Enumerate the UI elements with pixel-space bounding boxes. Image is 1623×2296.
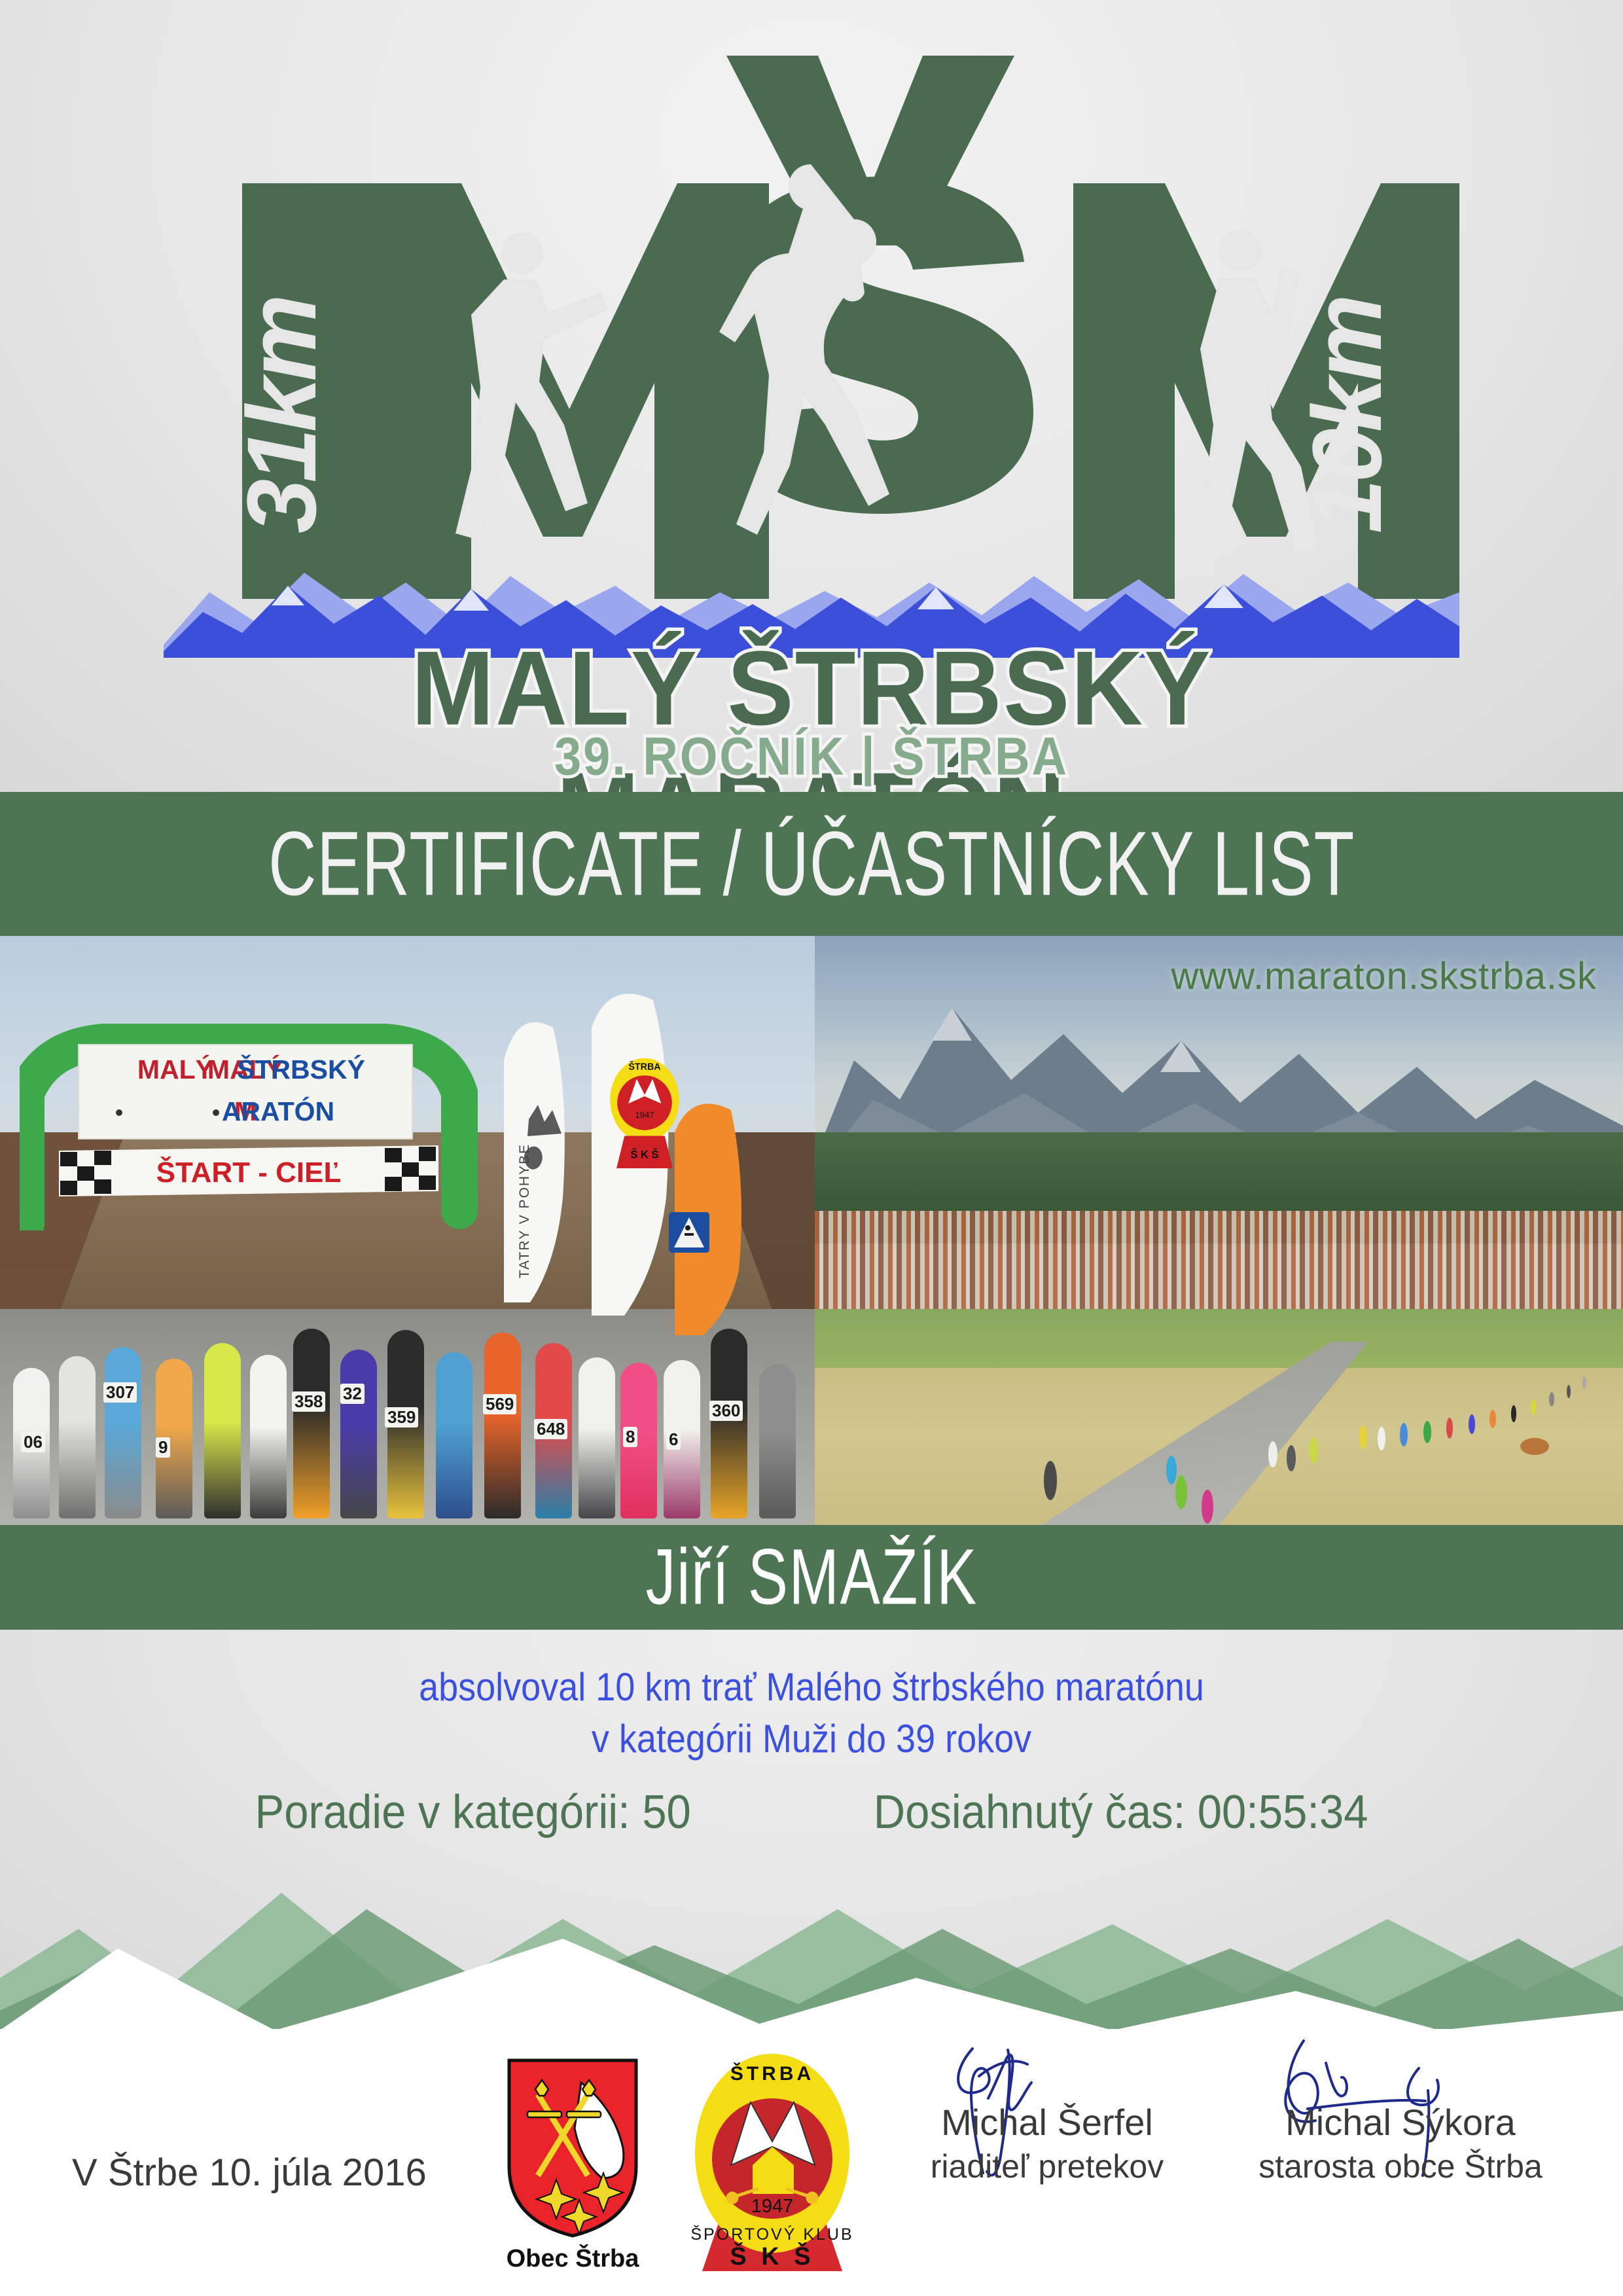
svg-text:ŠTRBSKÝ: ŠTRBSKÝ xyxy=(237,1054,365,1085)
bib-number: 307 xyxy=(103,1382,137,1403)
photo-course-landscape: www.maraton.skstrba.sk xyxy=(815,936,1623,1525)
svg-text:1947: 1947 xyxy=(635,1110,654,1120)
result-section: absolvoval 10 km trať Malého štrbského m… xyxy=(0,1630,1623,2029)
signature-block-director: Michal Šerfel riaditeľ pretekov xyxy=(877,2101,1217,2185)
certificate-title-band: CERTIFICATE / ÚČASTNÍCKY LIST xyxy=(0,792,1623,936)
signature-name: Michal Sýkora xyxy=(1230,2101,1571,2144)
header-logo-section: 31km 10km MALÝ ŠTRBSKÝ MARATÓN 39. ROČNÍ… xyxy=(0,0,1623,792)
arch-banner-label: ŠTART - CIEĽ xyxy=(156,1155,342,1189)
sks-year-label: 1947 xyxy=(751,2196,794,2217)
footer-section: V Štrbe 10. júla 2016 Obec Štrba xyxy=(0,2029,1623,2296)
result-description-line1: absolvoval 10 km trať Malého štrbského m… xyxy=(81,1661,1542,1713)
signature-role: starosta obce Štrba xyxy=(1230,2147,1571,2185)
distant-runners-icon xyxy=(815,1250,1623,1525)
feather-flag-tatry: TATRY V POHYBE xyxy=(491,1001,576,1302)
website-url[interactable]: www.maraton.skstrba.sk xyxy=(1171,954,1597,998)
distance-left-label: 31km xyxy=(226,298,336,533)
svg-text:ŠTRBA: ŠTRBA xyxy=(628,1060,660,1072)
photo-race-start: MALÝ x MALÝ ŠTRBSKÝ M ARATÓN ŠTART - CIE… xyxy=(0,936,815,1525)
signature-role: riaditeľ pretekov xyxy=(877,2147,1217,2185)
svg-text:ARATÓN: ARATÓN xyxy=(222,1096,334,1126)
bib-number: 360 xyxy=(709,1401,743,1421)
event-logo: 31km 10km MALÝ ŠTRBSKÝ MARATÓN 39. ROČNÍ… xyxy=(164,36,1459,782)
svg-text:TATRY V POHYBE: TATRY V POHYBE xyxy=(517,1143,532,1278)
sks-arc-label: ŠPORTOVÝ KLUB xyxy=(690,2225,853,2244)
svg-text:Š K Š: Š K Š xyxy=(630,1149,658,1161)
bib-number: 9 xyxy=(156,1437,170,1458)
sks-bottom-label: Š K Š xyxy=(730,2241,814,2270)
participant-name: Jiří SMAŽÍK xyxy=(645,1532,977,1623)
photo-strip: MALÝ x MALÝ ŠTRBSKÝ M ARATÓN ŠTART - CIE… xyxy=(0,936,1623,1525)
result-description-line2: v kategórii Muži do 39 rokov xyxy=(81,1713,1542,1765)
runner-crowd: 307 358 32 359 569 648 8 6 360 06 9 xyxy=(0,1302,815,1525)
distance-right-label: 10km xyxy=(1292,298,1402,533)
participant-name-band: Jiří SMAŽÍK xyxy=(0,1525,1623,1630)
bib-number: 32 xyxy=(340,1384,365,1404)
certificate-title: CERTIFICATE / ÚČASTNÍCKY LIST xyxy=(268,812,1355,916)
obec-strba-label: Obec Štrba xyxy=(484,2245,661,2273)
sks-club-crest-icon: ŠTRBA 1947 ŠPORTOVÝ KLUB Š K Š xyxy=(690,2049,854,2274)
bib-number: 359 xyxy=(385,1407,418,1427)
crosswalk-sign-icon xyxy=(668,1211,711,1254)
signature-block-mayor: Michal Sýkora starosta obce Štrba xyxy=(1230,2101,1571,2185)
issue-date: V Štrbe 10. júla 2016 xyxy=(72,2151,427,2195)
result-description: absolvoval 10 km trať Malého štrbského m… xyxy=(81,1661,1542,1765)
bib-number: 358 xyxy=(292,1391,325,1412)
bib-number: 06 xyxy=(21,1432,45,1452)
start-arch-icon: MALÝ x MALÝ ŠTRBSKÝ M ARATÓN ŠTART - CIE… xyxy=(20,1014,478,1230)
bib-number: 569 xyxy=(483,1394,516,1414)
bib-number: 6 xyxy=(666,1429,681,1450)
sks-top-label: ŠTRBA xyxy=(730,2062,814,2085)
bottom-mountain-decoration-icon xyxy=(0,1814,1623,2029)
event-subtitle: 39. ROČNÍK | ŠTRBA xyxy=(164,726,1459,787)
obec-strba-crest-icon xyxy=(504,2056,641,2240)
bib-number: 648 xyxy=(534,1419,567,1439)
signature-name: Michal Šerfel xyxy=(877,2101,1217,2144)
bib-number: 8 xyxy=(623,1427,637,1447)
svg-text:MALÝ: MALÝ xyxy=(137,1054,213,1085)
